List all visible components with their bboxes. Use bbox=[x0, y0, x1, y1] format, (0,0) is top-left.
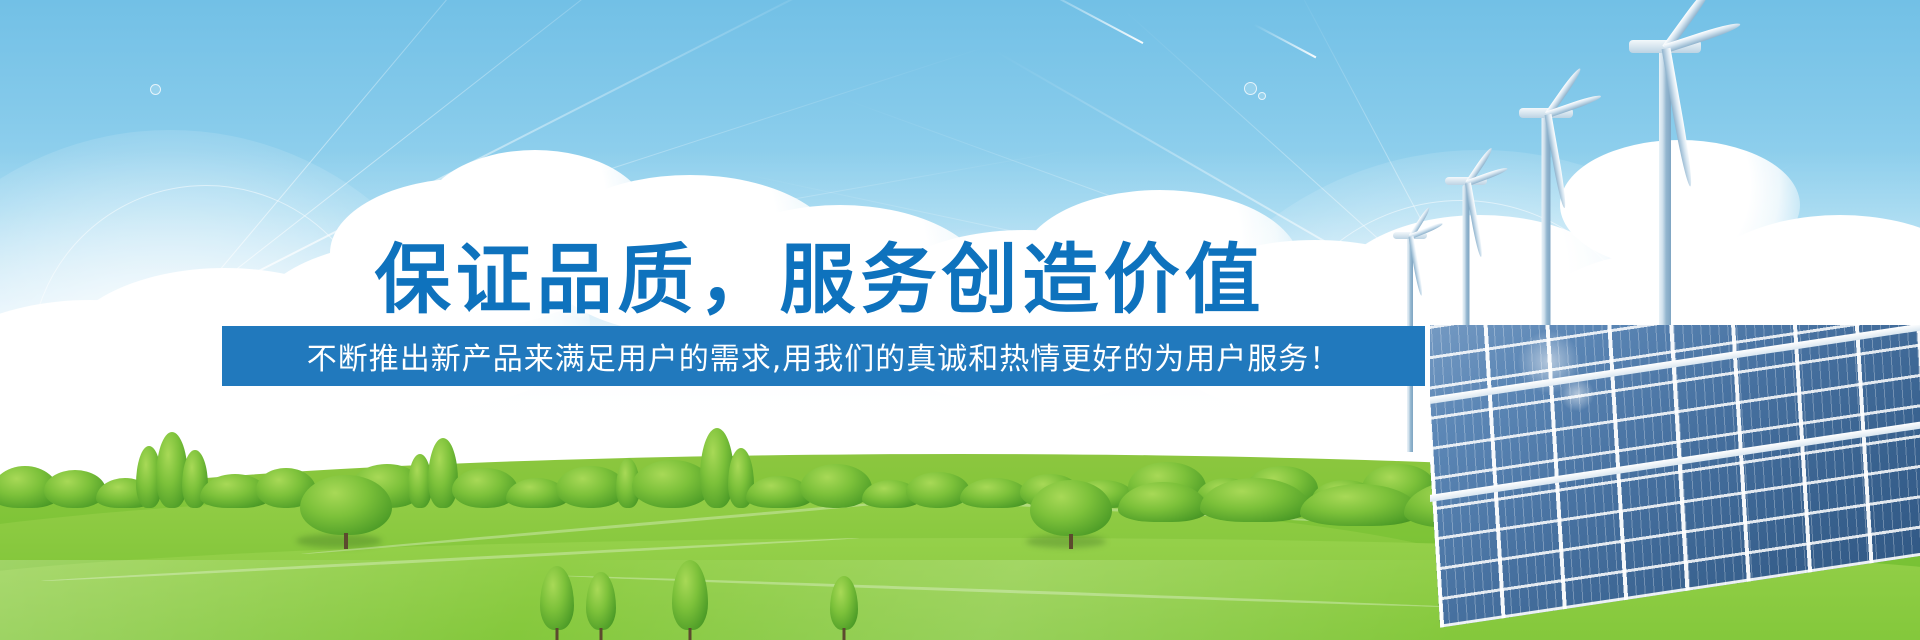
shrub-cluster bbox=[1118, 482, 1208, 522]
foreground-tree-large bbox=[300, 475, 392, 535]
sapling bbox=[586, 572, 616, 630]
page-title: 保证品质，服务创造价值 bbox=[0, 239, 1640, 321]
sapling bbox=[672, 560, 708, 630]
lens-flare-dot bbox=[1258, 92, 1266, 100]
subtitle-text: 不断推出新产品来满足用户的需求,用我们的真诚和热情更好的为用户服务！ bbox=[307, 334, 1341, 378]
sapling bbox=[540, 566, 574, 630]
solar-panel-array bbox=[1430, 325, 1920, 640]
panel-glare bbox=[1560, 377, 1594, 411]
subtitle-bar: 不断推出新产品来满足用户的需求,用我们的真诚和热情更好的为用户服务！ bbox=[222, 326, 1425, 386]
shrub-cluster bbox=[1300, 484, 1420, 526]
shrub-cluster bbox=[1200, 478, 1310, 522]
tree-shadow bbox=[296, 534, 382, 548]
foreground-tree-right bbox=[1030, 480, 1112, 536]
sapling bbox=[830, 576, 858, 630]
tree-shadow bbox=[1026, 535, 1106, 548]
lens-flare-dot bbox=[1244, 82, 1257, 95]
pv-module-grid bbox=[1430, 325, 1920, 628]
lens-flare-dot bbox=[150, 84, 161, 95]
promo-banner: 保证品质，服务创造价值 不断推出新产品来满足用户的需求,用我们的真诚和热情更好的… bbox=[0, 0, 1920, 640]
